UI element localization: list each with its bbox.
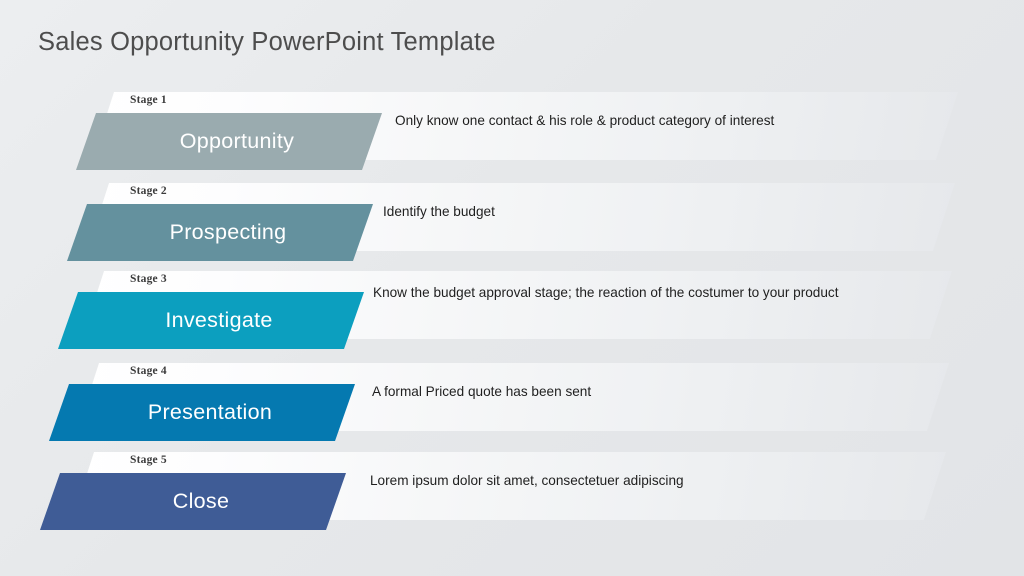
slide-canvas: Sales Opportunity PowerPoint Template Op… [0,0,1024,576]
page-title: Sales Opportunity PowerPoint Template [38,28,496,57]
stage-caption: Stage 2 [130,185,167,197]
stage-row[interactable]: Investigate Stage 3 Know the budget appr… [82,271,952,349]
stage-row[interactable]: Opportunity Stage 1 Only know one contac… [92,92,958,170]
stage-description: Only know one contact & his role & produ… [395,111,895,130]
stage-description: Know the budget approval stage; the reac… [373,283,918,302]
stage-label-block[interactable]: Prospecting [67,204,373,261]
stage-name: Investigate [143,308,278,333]
stage-label-block[interactable]: Investigate [58,292,364,349]
stage-caption: Stage 3 [130,273,167,285]
stage-row[interactable]: Close Stage 5 Lorem ipsum dolor sit amet… [72,452,946,530]
stage-name: Presentation [126,400,278,425]
stage-name: Close [151,489,235,514]
stage-label-block[interactable]: Close [40,473,346,530]
stage-row[interactable]: Prospecting Stage 2 Identify the budget [87,183,955,261]
stage-caption: Stage 5 [130,454,167,466]
stage-label-block[interactable]: Presentation [49,384,355,441]
stage-name: Prospecting [148,220,293,245]
stage-name: Opportunity [158,129,300,154]
stage-label-block[interactable]: Opportunity [76,113,382,170]
stage-description: Lorem ipsum dolor sit amet, consectetuer… [370,471,890,490]
stage-caption: Stage 4 [130,365,167,377]
stage-row[interactable]: Presentation Stage 4 A formal Priced quo… [77,363,949,441]
stage-description: A formal Priced quote has been sent [372,382,872,401]
stage-caption: Stage 1 [130,94,167,106]
stage-description: Identify the budget [383,202,883,221]
